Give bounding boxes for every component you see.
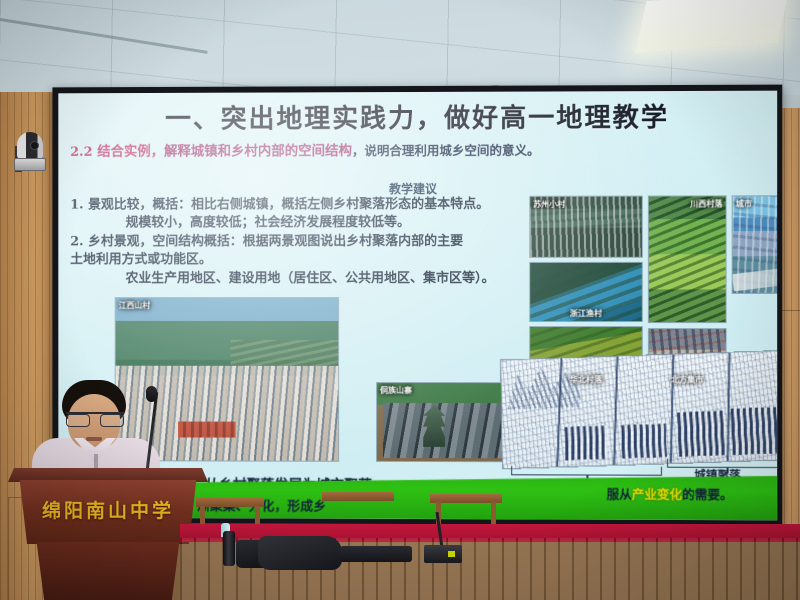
diagram-buildings: [730, 407, 777, 454]
thermos: [223, 531, 235, 566]
body-line-4: 土地利用方式或功能区。: [70, 251, 538, 270]
photo-caption: 浙江渔村: [570, 308, 602, 319]
podium-school-name: 绵阳南山中学: [16, 496, 200, 523]
body-line-1: 1. 景观比较，概括：相比右侧城镇，概括左侧乡村聚落形态的基本特点。: [70, 196, 538, 215]
body-line-2: 规模较小，高度较低；社会经济发展程度较低等。: [70, 214, 538, 233]
diagram-buildings: [677, 411, 727, 456]
photo-dong-minority-village: 侗族山寨: [376, 382, 518, 462]
band-right-prefix: 服从: [607, 487, 632, 502]
photo-caption: 川西村落: [690, 198, 722, 209]
slide-subtitle: 2.2 结合实例，解释城镇和乡村内部的空间结构，说明合理利用城乡空间的意义。: [70, 138, 760, 160]
subtitle-part-b: 解释城镇和乡村内部的空间结构: [164, 143, 352, 159]
podium-base: [32, 542, 184, 600]
band-right-highlight: 产业变化: [632, 487, 682, 502]
photo-caption: 江西山村: [119, 300, 151, 311]
subtitle-number: 2.2: [70, 145, 92, 160]
podium: 绵阳南山中学: [8, 468, 208, 600]
laptop-case: [340, 546, 412, 562]
slide-title: 一、突出地理实践力，做好高一地理教学: [118, 97, 718, 136]
bracket-rural: [511, 466, 662, 475]
photo-caption: 苏州小村: [533, 199, 565, 210]
microphone-icon: [146, 386, 157, 402]
lecture-hall-photo: 一、突出地理实践力，做好高一地理教学 2.2 结合实例，解释城镇和乡村内部的空间…: [0, 0, 800, 600]
slide-body-text: 1. 景观比较，概括：相比右侧城镇，概括左侧乡村聚落形态的基本特点。 规模较小，…: [70, 196, 538, 289]
body-line-5: 农业生产用地区、建设用地（居住区、公共用地区、集市区等）。: [70, 270, 538, 289]
camera-base: [14, 158, 46, 171]
glasses-icon: [66, 412, 124, 423]
diagram-buildings: [621, 424, 667, 458]
photo-western-sichuan-village: 川西村落: [648, 195, 727, 323]
subtitle-part-c: ，说明合理利用城乡空间的意义。: [352, 143, 540, 159]
photo-caption: 城市: [736, 198, 752, 209]
photo-texture: [649, 196, 726, 322]
photo-caption: 侗族山寨: [380, 385, 412, 396]
photo-zhejiang-fishing-village: 浙江渔村: [529, 262, 643, 322]
settlement-evolution-diagram: [500, 350, 777, 469]
chair-legs: [436, 502, 496, 526]
chair-back: [322, 492, 394, 501]
photo-rooftops: [383, 403, 512, 458]
microphone-base: [424, 545, 462, 563]
ptz-camera: [14, 132, 46, 176]
camera-lens-icon: [30, 141, 39, 150]
diagram-buildings: [564, 426, 607, 460]
subtitle-part-a: 结合实例，: [97, 144, 164, 160]
band-right-suffix: 的需要。: [682, 487, 733, 502]
black-bag: [258, 536, 342, 570]
photo-caption: 华北村落: [570, 374, 602, 385]
band-right-text: 服从产业变化的需要。: [607, 484, 733, 503]
teaching-hint-label: 教学建议: [389, 180, 437, 197]
photo-caption: 北方集市: [671, 374, 703, 385]
body-line-3: 2. 乡村景观，空间结构概括：根据两景观图说出乡村聚落内部的主要: [70, 233, 538, 252]
photo-city-aerial-view: 城市: [732, 195, 778, 294]
photo-suzhou-water-village: 苏州小村: [529, 196, 643, 258]
podium-top: [8, 468, 208, 482]
photo-red-roofs: [178, 421, 236, 437]
presenter-mouth: [86, 437, 102, 441]
